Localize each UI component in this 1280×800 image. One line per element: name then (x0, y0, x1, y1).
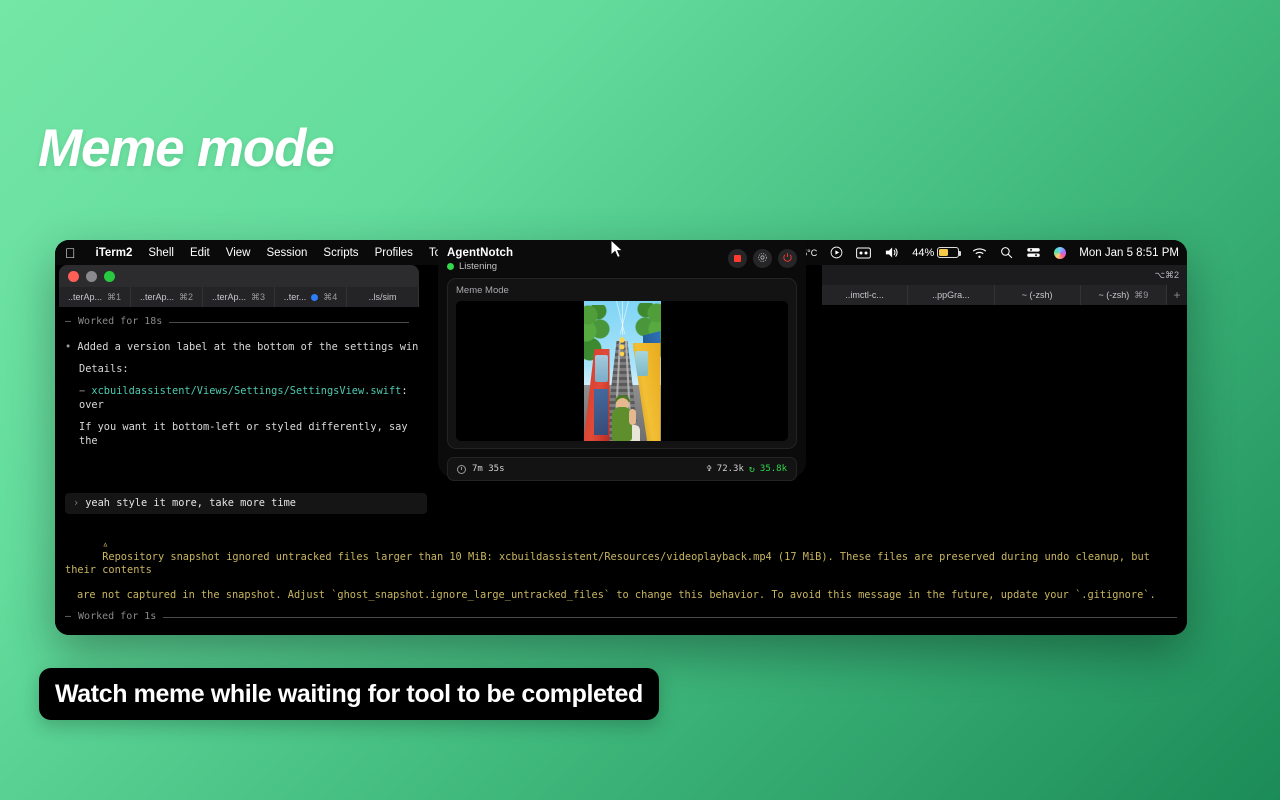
token-stats: ✞ 72.3k ↻ 35.8k (706, 464, 787, 475)
battery-percent-label: 44% (912, 247, 934, 259)
worked-for-18s-header: — Worked for 18s (65, 315, 409, 329)
tab-shortcut: ⌘4 (323, 292, 337, 303)
siri-icon[interactable] (1054, 247, 1066, 259)
header-rule (169, 322, 409, 323)
subway-surfers-video-frame (584, 301, 661, 441)
iterm-right-pane[interactable] (822, 305, 1187, 485)
settings-button[interactable] (753, 249, 772, 268)
tab-activity-indicator-icon (311, 294, 318, 301)
menu-item-profiles[interactable]: Profiles (367, 247, 421, 259)
tab-ls-sim[interactable]: ..ls/sim (347, 287, 419, 307)
stop-recording-button[interactable] (728, 249, 747, 268)
user-prompt-line[interactable]: ›yeah style it more, take more time (65, 493, 427, 514)
play-circle-icon[interactable] (830, 246, 843, 259)
gear-icon (757, 252, 768, 266)
bullet-text: Added a version label at the bottom of t… (77, 341, 419, 353)
tokens-icon: ✞ (706, 464, 711, 474)
closing-text: If you want it bottom-left or styled dif… (65, 420, 409, 448)
iterm-right-tabbar: ..imctl-c... ..ppGra... ~ (-zsh) ~ (-zsh… (822, 285, 1187, 305)
menu-item-session[interactable]: Session (258, 247, 315, 259)
macos-screenshot:  iTerm2 Shell Edit View Session Scripts… (55, 240, 1187, 635)
tab-shortcut: ⌘3 (251, 292, 265, 303)
elapsed-time-value: 7m 35s (472, 464, 505, 474)
iterm-left-tabbar: ..terAp... ⌘1 ..terAp... ⌘2 ..terAp... ⌘… (59, 287, 419, 307)
menu-item-view[interactable]: View (218, 247, 259, 259)
tab-label: ~ (-zsh) (1098, 290, 1129, 300)
iterm-right-titlebar: ⌥⌘2 (822, 265, 1187, 285)
search-icon[interactable] (1000, 246, 1013, 259)
tab-zsh-1[interactable]: ~ (-zsh) (995, 285, 1081, 305)
clock-icon (457, 465, 466, 474)
tab-zsh-2[interactable]: ~ (-zsh) ⌘9 (1081, 285, 1167, 305)
worked-for-1s-header: — Worked for 1s (65, 611, 1177, 624)
details-label: Details: (65, 362, 409, 376)
iterm-left-titlebar (59, 265, 419, 287)
worked-for-label: Worked for 18s (78, 315, 162, 329)
tab-label: ..terAp... (68, 292, 102, 302)
tab-ppgra[interactable]: ..ppGra... (908, 285, 994, 305)
iterm-right-window: ⌥⌘2 ..imctl-c... ..ppGra... ~ (-zsh) ~ (… (822, 265, 1187, 485)
apple-logo-icon[interactable]:  (65, 246, 76, 260)
coins (617, 337, 627, 361)
detail-file-path[interactable]: xcbuildassistent/Views/Settings/Settings… (91, 385, 401, 397)
user-prompt-text: yeah style it more, take more time (85, 497, 296, 509)
battery-indicator[interactable]: 44% (912, 247, 959, 259)
tab-label: ..terAp... (140, 292, 174, 302)
tab-label: ..ter... (284, 292, 307, 302)
agentnotch-status: Listening (447, 261, 513, 272)
now-playing-icon[interactable] (856, 247, 871, 259)
stop-square-icon (734, 255, 741, 262)
caption-text: Watch meme while waiting for tool to be … (55, 680, 643, 709)
volume-icon[interactable] (884, 246, 899, 259)
agentnotch-title: AgentNotch (447, 247, 513, 259)
agentnotch-panel: AgentNotch Listening (438, 240, 806, 478)
menu-item-iterm2[interactable]: iTerm2 (88, 247, 141, 259)
tab-label: ~ (-zsh) (1022, 290, 1053, 300)
minimize-button[interactable] (86, 271, 97, 282)
menubar-status-group: 5°C 44% Mon Jan 5 (802, 240, 1179, 265)
menu-item-edit[interactable]: Edit (182, 247, 218, 259)
agentnotch-controls (728, 249, 797, 268)
player-character (609, 389, 635, 441)
terminal-bullet-line: • Added a version label at the bottom of… (65, 340, 409, 354)
zoom-button[interactable] (104, 271, 115, 282)
tab-label: ..imctl-c... (845, 290, 884, 300)
menubar-clock[interactable]: Mon Jan 5 8:51 PM (1079, 247, 1179, 259)
control-center-icon[interactable] (1026, 246, 1041, 259)
meme-mode-label: Meme Mode (456, 285, 788, 296)
power-icon (782, 252, 793, 266)
status-label: Listening (459, 261, 497, 272)
tokens-up-value: 72.3k (717, 464, 744, 474)
tab-terap-4[interactable]: ..ter... ⌘4 (275, 287, 347, 307)
cache-refresh-icon: ↻ (749, 464, 755, 475)
window-shortcut-hint: ⌥⌘2 (1155, 270, 1179, 281)
snapshot-warning: ▵ Repository snapshot ignored untracked … (65, 526, 1177, 590)
terminal-lower-output[interactable]: ›yeah style it more, take more time ▵ Re… (55, 487, 1187, 635)
warning-line-1: Repository snapshot ignored untracked fi… (65, 551, 1156, 576)
power-button[interactable] (778, 249, 797, 268)
menubar-left-group:  iTerm2 Shell Edit View Session Scripts… (55, 246, 458, 260)
tab-shortcut: ⌘1 (107, 292, 121, 303)
detail-file-row: − xcbuildassistent/Views/Settings/Settin… (65, 384, 409, 412)
tab-imctl-c[interactable]: ..imctl-c... (822, 285, 908, 305)
tab-terap-1[interactable]: ..terAp... ⌘1 (59, 287, 131, 307)
worked-for-label: Worked for 1s (78, 611, 156, 624)
menu-item-scripts[interactable]: Scripts (315, 247, 366, 259)
warning-triangle-icon: ▵ (102, 538, 108, 550)
tab-shortcut: ⌘2 (179, 292, 193, 303)
meme-video-player[interactable] (456, 301, 788, 441)
tab-terap-3[interactable]: ..terAp... ⌘3 (203, 287, 275, 307)
status-indicator-icon (447, 263, 454, 270)
meme-mode-card: Meme Mode (447, 278, 797, 449)
mouse-cursor (611, 240, 625, 265)
caption-pill: Watch meme while waiting for tool to be … (39, 668, 659, 720)
tab-label: ..ls/sim (369, 292, 397, 302)
wifi-icon[interactable] (972, 247, 987, 259)
page-title: Meme mode (38, 118, 334, 179)
agentnotch-stats-bar: 7m 35s ✞ 72.3k ↻ 35.8k (447, 457, 797, 481)
tab-label: ..ppGra... (932, 290, 970, 300)
tab-label: ..terAp... (212, 292, 246, 302)
tokens-cached-value: 35.8k (760, 464, 787, 474)
new-tab-button[interactable]: + (1167, 285, 1187, 305)
elapsed-time-stat: 7m 35s (457, 464, 505, 474)
battery-icon (937, 247, 959, 258)
tab-terap-2[interactable]: ..terAp... ⌘2 (131, 287, 203, 307)
prompt-chevron-icon: › (73, 497, 79, 509)
close-button[interactable] (68, 271, 79, 282)
header-rule (163, 617, 1177, 618)
menu-item-shell[interactable]: Shell (140, 247, 182, 259)
agentnotch-identity: AgentNotch Listening (447, 247, 513, 272)
warning-line-2: are not captured in the snapshot. Adjust… (65, 589, 1177, 602)
tab-shortcut: ⌘9 (1134, 290, 1148, 301)
